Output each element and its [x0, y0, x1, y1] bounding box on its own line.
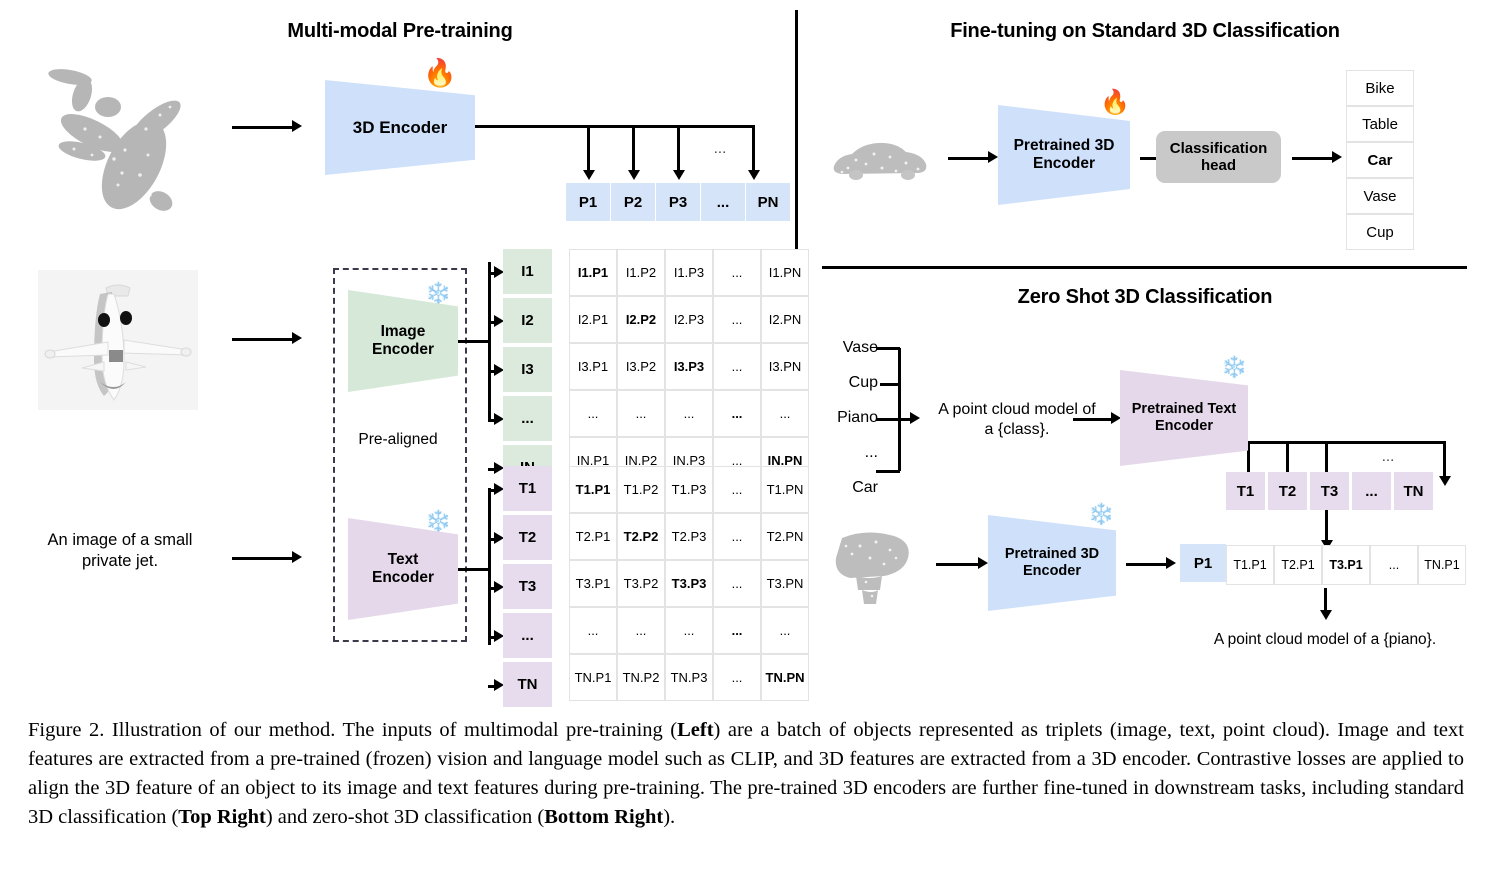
text-matrix-cell: T1.P2: [617, 466, 665, 513]
image-matrix-cell: I3.P3: [665, 343, 713, 390]
pretrained-3d-encoder-label-tr: Pretrained 3DEncoder: [1014, 137, 1115, 173]
image-matrix-cell: I2.PN: [761, 296, 809, 343]
zeroshot-class-item: Piano: [816, 408, 878, 428]
airplane-rendered-image: [38, 270, 198, 410]
image-matrix-cell: I2.P2: [617, 296, 665, 343]
arrow-line-image: [232, 338, 294, 341]
pretrained-text-encoder-block[interactable]: Pretrained TextEncoder: [1120, 370, 1248, 466]
bus-drop-p1: [587, 125, 590, 175]
arrow-head-br-3: [1166, 557, 1176, 569]
image-matrix-cell: ...: [761, 390, 809, 437]
prealigned-label: Pre-aligned: [333, 430, 463, 449]
t-row-cell: T1: [1226, 472, 1267, 510]
arrow-line-text: [232, 557, 294, 560]
i-label-cell: I2: [503, 298, 552, 345]
text-matrix-cell: T3.P3: [665, 560, 713, 607]
text-matrix-cell: T1.PN: [761, 466, 809, 513]
p1-feature-box: P1: [1180, 544, 1226, 582]
text-matrix-cell: ...: [569, 607, 617, 654]
snowflake-icon-image: ❄️: [425, 283, 451, 304]
zeroshot-output-text: A point cloud model of a {piano}.: [1180, 630, 1470, 649]
image-matrix-cell: I3.P1: [569, 343, 617, 390]
img-bus-vertical: [488, 262, 491, 419]
text-matrix-cell: TN.P1: [569, 654, 617, 701]
image-matrix-cell: I1.P3: [665, 249, 713, 296]
text-matrix-cell: T1.P3: [665, 466, 713, 513]
bus-drop-p2: [632, 125, 635, 175]
image-matrix-cell: I1.P2: [617, 249, 665, 296]
text-matrix-cell: ...: [713, 560, 761, 607]
horizontal-divider: [822, 266, 1467, 269]
image-matrix-cell: ...: [713, 390, 761, 437]
t-label-cell: TN: [503, 662, 552, 709]
t-label-cell: T2: [503, 515, 552, 562]
text-matrix-cell: TN.P2: [617, 654, 665, 701]
text-matrix-cell: TN.PN: [761, 654, 809, 701]
pretrained-3d-encoder-block-br[interactable]: Pretrained 3DEncoder: [988, 515, 1116, 611]
arrow-line-br-1: [1073, 418, 1113, 421]
txt-bus-vertical: [488, 488, 491, 645]
panel-title-bottomright: Zero Shot 3D Classification: [880, 286, 1410, 309]
pretrained-text-encoder-label: Pretrained TextEncoder: [1132, 401, 1237, 434]
bracket-tick-piano: [876, 418, 900, 421]
arrow-line-tr-1: [948, 157, 990, 160]
snowflake-icon-text: ❄️: [425, 511, 451, 532]
bus-ellipsis-p: ...: [700, 140, 740, 159]
t-label-cell: T3: [503, 564, 552, 611]
t-row-cell: ...: [1352, 472, 1393, 510]
arrow-line-br-2: [936, 563, 980, 566]
bus-ellipsis-t: ...: [1368, 448, 1408, 467]
text-matrix-cell: T2.P2: [617, 513, 665, 560]
figure-caption: Figure 2. Illustration of our method. Th…: [28, 716, 1464, 832]
image-matrix-cell: I3.PN: [761, 343, 809, 390]
arrow-line-tr-3: [1292, 157, 1334, 160]
pretrained-3d-encoder-label-br: Pretrained 3DEncoder: [1005, 546, 1099, 579]
class-item[interactable]: Bike: [1346, 70, 1414, 106]
class-item[interactable]: Vase: [1346, 178, 1414, 214]
text-matrix-cell: T3.PN: [761, 560, 809, 607]
bus-drop-p3: [677, 125, 680, 175]
bracket-out-arrow: [910, 412, 920, 424]
bracket-top: [876, 347, 900, 350]
text-matrix-cell: ...: [617, 607, 665, 654]
bus-line-p: [450, 125, 755, 128]
bracket-bottom: [876, 470, 900, 473]
arrow-head-pn: [748, 170, 760, 180]
i-label-cell: ...: [503, 396, 552, 443]
image-matrix-cell: I1.PN: [761, 249, 809, 296]
bus-line-t: [1240, 441, 1445, 444]
text-matrix-cell: T2.P3: [665, 513, 713, 560]
piano-point-cloud: [826, 524, 926, 608]
image-matrix-cell: I3.P2: [617, 343, 665, 390]
pretrained-3d-encoder-block-tr[interactable]: Pretrained 3DEncoder: [998, 105, 1130, 205]
text-encoder-label: TextEncoder: [372, 551, 434, 587]
p-cell: P3: [656, 183, 700, 221]
t-row-cell: T3: [1310, 472, 1351, 510]
text-matrix-cell: T2.P1: [569, 513, 617, 560]
image-matrix-cell: ...: [713, 343, 761, 390]
image-matrix-cell: ...: [713, 296, 761, 343]
text-matrix-cell: ...: [713, 607, 761, 654]
zeroshot-class-item: Car: [816, 478, 878, 498]
classification-head-block[interactable]: Classificationhead: [1156, 131, 1281, 183]
encoder-3d-block[interactable]: 3D Encoder: [325, 80, 475, 175]
similarity-cell: TN.P1: [1418, 545, 1466, 585]
arrow-head-p3: [673, 170, 685, 180]
t-row-cell: T2: [1268, 472, 1309, 510]
input-text-caption: An image of a smallprivate jet.: [25, 530, 215, 571]
fire-icon: 🔥: [423, 60, 457, 87]
encoder-3d-label: 3D Encoder: [353, 118, 447, 138]
class-item-selected[interactable]: Car: [1346, 142, 1414, 178]
sim-to-out-arrow: [1320, 610, 1332, 620]
img-enc-out-line: [456, 340, 490, 343]
image-matrix-cell: ...: [665, 390, 713, 437]
similarity-cell: T3.P1: [1322, 545, 1370, 585]
arrow-head-p2: [628, 170, 640, 180]
t-label-cell: T1: [503, 466, 552, 513]
figure-diagram: Multi-modal Pre-training Fine-tuning on …: [0, 0, 1490, 700]
arrow-head-pointcloud: [292, 120, 302, 132]
p-cell: PN: [746, 183, 790, 221]
image-matrix-cell: ...: [569, 390, 617, 437]
p-cell: P1: [566, 183, 610, 221]
class-item[interactable]: Table: [1346, 106, 1414, 142]
t-to-sim-line: [1325, 510, 1328, 544]
bracket-tick-cup: [880, 383, 900, 386]
zeroshot-class-item: Vase: [816, 338, 878, 358]
text-matrix-cell: ...: [665, 607, 713, 654]
text-matrix-cell: T2.PN: [761, 513, 809, 560]
text-matrix-cell: ...: [713, 513, 761, 560]
image-matrix-cell: I2.P1: [569, 296, 617, 343]
image-matrix-cell: I2.P3: [665, 296, 713, 343]
bracket-vertical: [898, 348, 901, 471]
arrow-head-p1: [583, 170, 595, 180]
arrow-head-tn: [1439, 476, 1451, 486]
i-label-cell: I3: [503, 347, 552, 394]
text-matrix-cell: ...: [713, 466, 761, 513]
car-point-cloud: [826, 128, 936, 188]
panel-title-left: Multi-modal Pre-training: [265, 20, 535, 43]
bus-drop-tn: [1443, 441, 1446, 480]
arrow-head-image: [292, 332, 302, 344]
image-matrix-cell: ...: [617, 390, 665, 437]
text-matrix-cell: T3.P2: [617, 560, 665, 607]
similarity-cell: T2.P1: [1274, 545, 1322, 585]
p-cell: P2: [611, 183, 655, 221]
similarity-cell: T1.P1: [1226, 545, 1274, 585]
txt-enc-out-line: [456, 568, 490, 571]
snowflake-icon-textenc: ❄️: [1221, 357, 1247, 378]
bus-drop-pn: [752, 125, 755, 175]
text-matrix-cell: T3.P1: [569, 560, 617, 607]
text-encoder-block[interactable]: TextEncoder: [348, 518, 458, 620]
snowflake-icon-3denc: ❄️: [1088, 504, 1114, 525]
class-item[interactable]: Cup: [1346, 214, 1414, 250]
arrow-head-tr-1: [988, 151, 998, 163]
text-matrix-cell: TN.P3: [665, 654, 713, 701]
image-matrix-cell: I1.P1: [569, 249, 617, 296]
image-matrix-cell: ...: [713, 249, 761, 296]
t-row-cell: TN: [1394, 472, 1435, 510]
panel-title-topright: Fine-tuning on Standard 3D Classificatio…: [880, 20, 1410, 43]
arrow-line-pointcloud: [232, 126, 294, 129]
i-label-cell: I1: [503, 249, 552, 296]
text-matrix-cell: T1.P1: [569, 466, 617, 513]
arrow-head-tr-3: [1332, 151, 1342, 163]
zeroshot-class-item: Cup: [816, 373, 878, 393]
t-label-cell: ...: [503, 613, 552, 660]
arrow-line-br-3: [1126, 563, 1168, 566]
arrow-head-text: [292, 551, 302, 563]
text-matrix-cell: ...: [713, 654, 761, 701]
text-matrix-cell: ...: [761, 607, 809, 654]
p-cell: ...: [701, 183, 745, 221]
image-encoder-label: ImageEncoder: [372, 323, 434, 359]
fire-icon-topright: 🔥: [1100, 91, 1130, 115]
zeroshot-class-item: ...: [816, 443, 878, 463]
image-encoder-block[interactable]: ImageEncoder: [348, 290, 458, 392]
arrow-head-br-2: [978, 557, 988, 569]
airplane-point-cloud: [30, 55, 215, 220]
similarity-cell: ...: [1370, 545, 1418, 585]
